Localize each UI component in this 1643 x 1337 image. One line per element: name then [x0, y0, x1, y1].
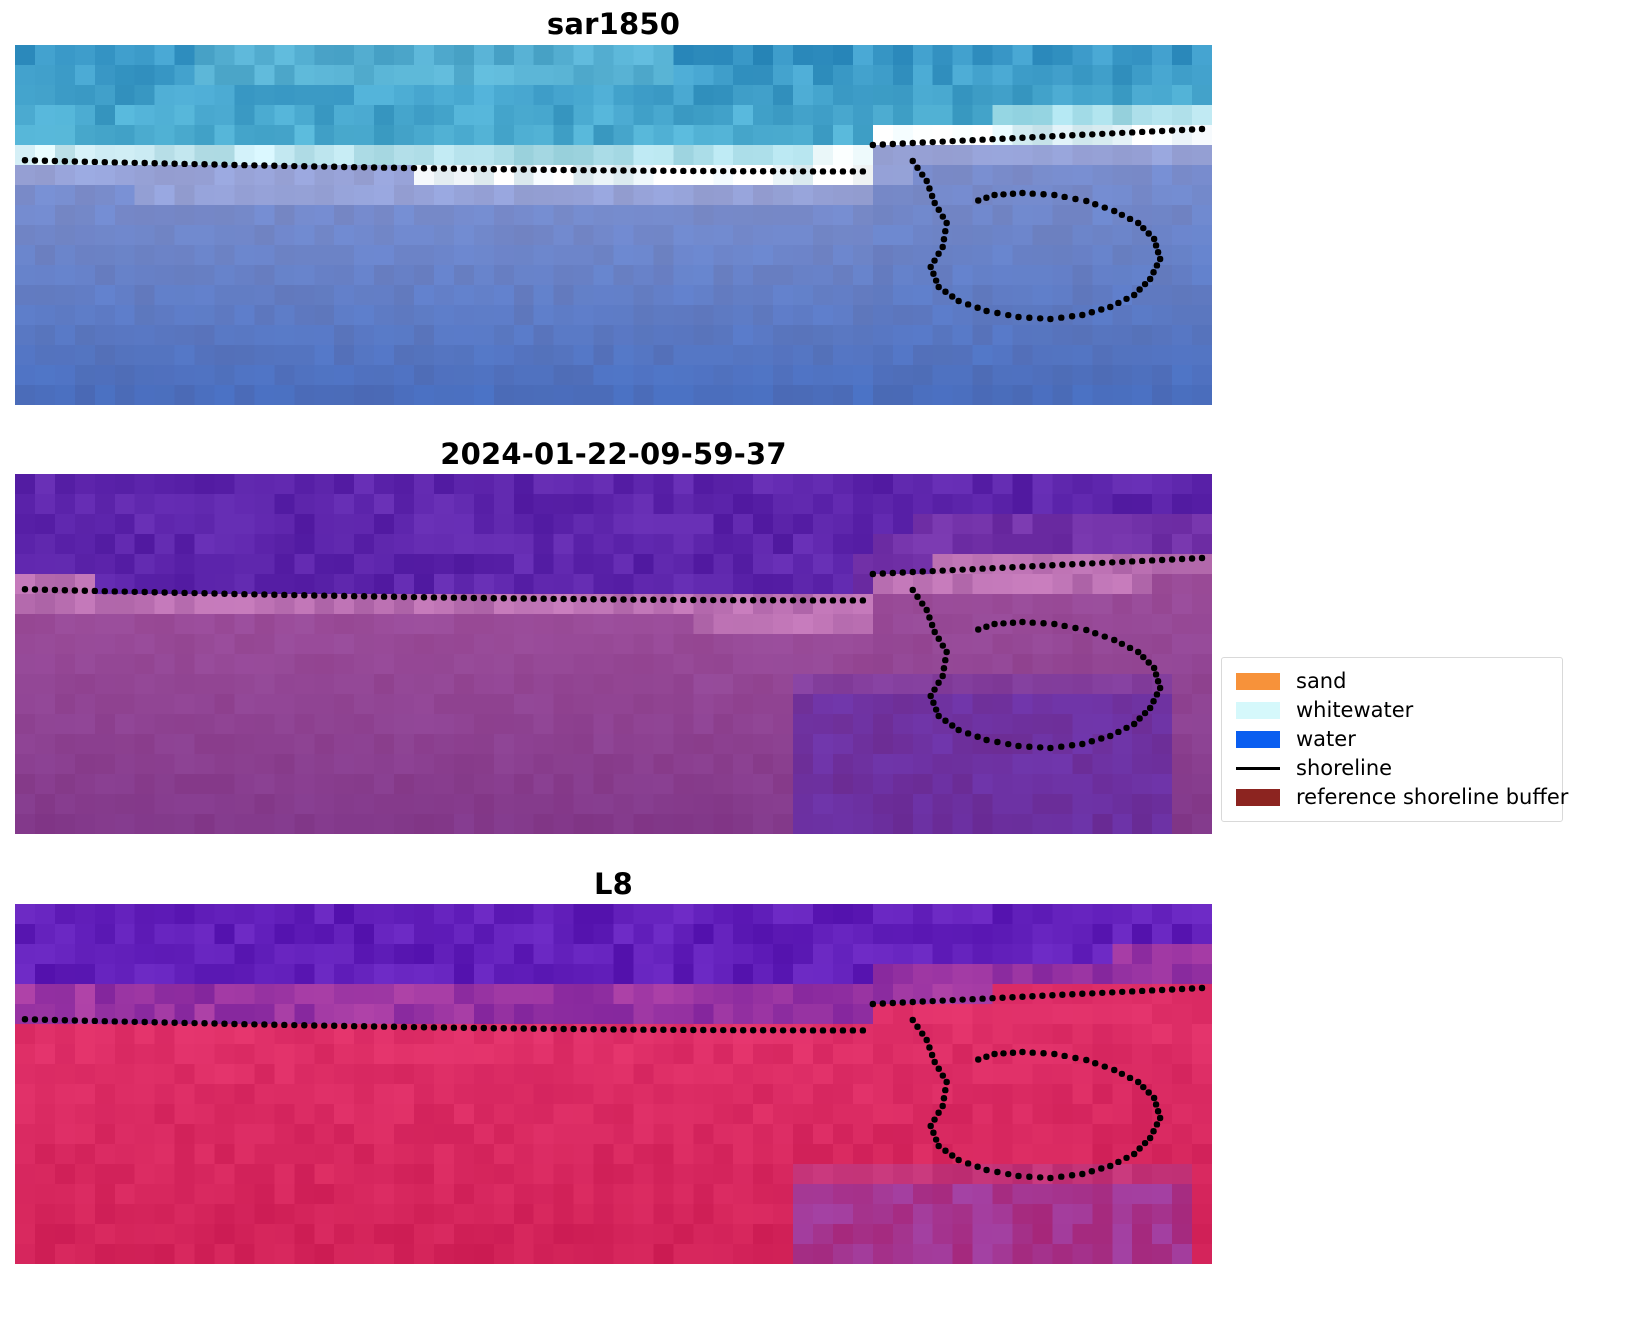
- l8-image-panel[interactable]: [15, 904, 1212, 1264]
- panel-title-l8: L8: [0, 870, 1227, 899]
- legend-label-sand: sand: [1296, 671, 1346, 692]
- legend-item-water[interactable]: water: [1236, 725, 1550, 754]
- sar-image-panel[interactable]: [15, 45, 1212, 405]
- sand-color-swatch: [1236, 673, 1280, 690]
- legend-label-whitewater: whitewater: [1296, 700, 1413, 721]
- shoreline-overlay: [15, 904, 1212, 1264]
- legend-item-whitewater[interactable]: whitewater: [1236, 696, 1550, 725]
- reference-buffer-color-swatch: [1236, 789, 1280, 806]
- legend-label-shoreline: shoreline: [1296, 758, 1392, 779]
- legend-item-sand[interactable]: sand: [1236, 667, 1550, 696]
- legend-item-reference-buffer[interactable]: reference shoreline buffer: [1236, 783, 1550, 812]
- shoreline-overlay: [15, 474, 1212, 834]
- whitewater-color-swatch: [1236, 702, 1280, 719]
- panel-title-sar: sar1850: [0, 10, 1227, 39]
- panel-title-timestamp: 2024-01-22-09-59-37: [0, 440, 1227, 469]
- classified-image-panel[interactable]: [15, 474, 1212, 834]
- legend-label-water: water: [1296, 729, 1356, 750]
- water-color-swatch: [1236, 731, 1280, 748]
- legend-item-shoreline[interactable]: shoreline: [1236, 754, 1550, 783]
- legend-label-reference-buffer: reference shoreline buffer: [1296, 787, 1568, 808]
- shoreline-overlay: [15, 45, 1212, 405]
- shoreline-line-swatch: [1236, 760, 1280, 777]
- figure-root: sar1850 2024-01-22-09-59-37 L8 sand whit…: [0, 0, 1643, 1337]
- class-legend: sand whitewater water shoreline referenc…: [1221, 657, 1563, 822]
